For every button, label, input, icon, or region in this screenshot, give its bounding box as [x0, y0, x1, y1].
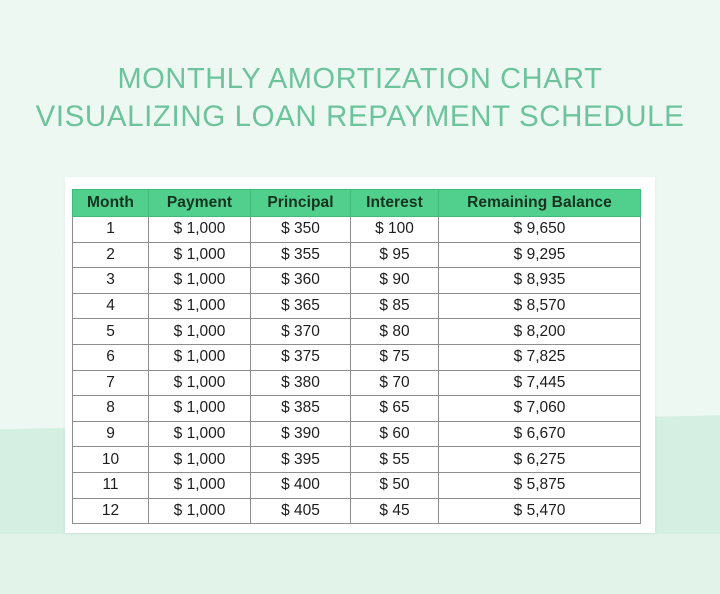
title-line-2: VISUALIZING LOAN REPAYMENT SCHEDULE — [0, 98, 720, 136]
cell-month: 1 — [73, 217, 149, 243]
table-header-row: MonthPaymentPrincipalInterestRemaining B… — [73, 190, 641, 217]
cell-interest: $ 45 — [351, 498, 439, 524]
cell-month: 8 — [73, 396, 149, 422]
cell-interest: $ 75 — [351, 344, 439, 370]
page-title: MONTHLY AMORTIZATION CHART VISUALIZING L… — [0, 60, 720, 136]
cell-principal: $ 360 — [251, 268, 351, 294]
cell-month: 12 — [73, 498, 149, 524]
background-band-footer — [0, 534, 720, 594]
cell-month: 3 — [73, 268, 149, 294]
table-row: 8$ 1,000$ 385$ 65$ 7,060 — [73, 396, 641, 422]
cell-remaining-balance: $ 9,295 — [439, 242, 641, 268]
cell-principal: $ 350 — [251, 217, 351, 243]
column-header-payment: Payment — [149, 190, 251, 217]
cell-interest: $ 55 — [351, 447, 439, 473]
cell-payment: $ 1,000 — [149, 293, 251, 319]
cell-principal: $ 365 — [251, 293, 351, 319]
cell-payment: $ 1,000 — [149, 242, 251, 268]
cell-payment: $ 1,000 — [149, 217, 251, 243]
column-header-principal: Principal — [251, 190, 351, 217]
cell-payment: $ 1,000 — [149, 319, 251, 345]
cell-remaining-balance: $ 8,200 — [439, 319, 641, 345]
cell-payment: $ 1,000 — [149, 498, 251, 524]
cell-remaining-balance: $ 8,935 — [439, 268, 641, 294]
table-row: 4$ 1,000$ 365$ 85$ 8,570 — [73, 293, 641, 319]
cell-remaining-balance: $ 6,670 — [439, 421, 641, 447]
table-row: 5$ 1,000$ 370$ 80$ 8,200 — [73, 319, 641, 345]
table-row: 12$ 1,000$ 405$ 45$ 5,470 — [73, 498, 641, 524]
column-header-interest: Interest — [351, 190, 439, 217]
title-line-1: MONTHLY AMORTIZATION CHART — [0, 60, 720, 98]
cell-month: 2 — [73, 242, 149, 268]
cell-interest: $ 90 — [351, 268, 439, 294]
table-row: 6$ 1,000$ 375$ 75$ 7,825 — [73, 344, 641, 370]
cell-interest: $ 50 — [351, 472, 439, 498]
cell-interest: $ 85 — [351, 293, 439, 319]
cell-principal: $ 395 — [251, 447, 351, 473]
cell-remaining-balance: $ 8,570 — [439, 293, 641, 319]
column-header-month: Month — [73, 190, 149, 217]
cell-remaining-balance: $ 5,470 — [439, 498, 641, 524]
table-row: 3$ 1,000$ 360$ 90$ 8,935 — [73, 268, 641, 294]
cell-payment: $ 1,000 — [149, 396, 251, 422]
cell-interest: $ 60 — [351, 421, 439, 447]
cell-principal: $ 380 — [251, 370, 351, 396]
cell-payment: $ 1,000 — [149, 370, 251, 396]
table-row: 9$ 1,000$ 390$ 60$ 6,670 — [73, 421, 641, 447]
cell-remaining-balance: $ 7,825 — [439, 344, 641, 370]
column-header-remaining-balance: Remaining Balance — [439, 190, 641, 217]
cell-interest: $ 95 — [351, 242, 439, 268]
cell-interest: $ 70 — [351, 370, 439, 396]
cell-principal: $ 355 — [251, 242, 351, 268]
table-row: 2$ 1,000$ 355$ 95$ 9,295 — [73, 242, 641, 268]
cell-remaining-balance: $ 7,445 — [439, 370, 641, 396]
cell-payment: $ 1,000 — [149, 421, 251, 447]
cell-interest: $ 80 — [351, 319, 439, 345]
cell-interest: $ 65 — [351, 396, 439, 422]
table-row: 11$ 1,000$ 400$ 50$ 5,875 — [73, 472, 641, 498]
cell-principal: $ 405 — [251, 498, 351, 524]
table-row: 1$ 1,000$ 350$ 100$ 9,650 — [73, 217, 641, 243]
cell-principal: $ 375 — [251, 344, 351, 370]
cell-month: 7 — [73, 370, 149, 396]
cell-month: 6 — [73, 344, 149, 370]
cell-interest: $ 100 — [351, 217, 439, 243]
cell-principal: $ 400 — [251, 472, 351, 498]
cell-payment: $ 1,000 — [149, 344, 251, 370]
table-row: 10$ 1,000$ 395$ 55$ 6,275 — [73, 447, 641, 473]
cell-payment: $ 1,000 — [149, 447, 251, 473]
cell-month: 9 — [73, 421, 149, 447]
table-body: 1$ 1,000$ 350$ 100$ 9,6502$ 1,000$ 355$ … — [73, 217, 641, 524]
cell-principal: $ 390 — [251, 421, 351, 447]
cell-payment: $ 1,000 — [149, 268, 251, 294]
table-row: 7$ 1,000$ 380$ 70$ 7,445 — [73, 370, 641, 396]
cell-payment: $ 1,000 — [149, 472, 251, 498]
cell-principal: $ 370 — [251, 319, 351, 345]
cell-remaining-balance: $ 7,060 — [439, 396, 641, 422]
cell-month: 10 — [73, 447, 149, 473]
cell-remaining-balance: $ 5,875 — [439, 472, 641, 498]
cell-remaining-balance: $ 6,275 — [439, 447, 641, 473]
amortization-table: MonthPaymentPrincipalInterestRemaining B… — [72, 189, 641, 524]
cell-principal: $ 385 — [251, 396, 351, 422]
cell-month: 5 — [73, 319, 149, 345]
cell-month: 4 — [73, 293, 149, 319]
cell-remaining-balance: $ 9,650 — [439, 217, 641, 243]
cell-month: 11 — [73, 472, 149, 498]
